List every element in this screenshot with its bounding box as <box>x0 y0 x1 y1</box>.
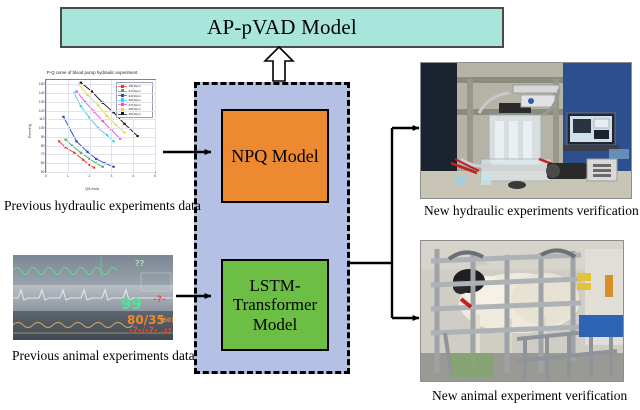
chart-gridline-y <box>46 102 155 103</box>
caption-new-hydraulic: New hydraulic experiments verification <box>424 203 639 219</box>
chart-data-point <box>123 132 125 134</box>
hydraulic-bench-scene <box>421 63 631 198</box>
model-title-box: AP-pVAD Model <box>60 7 504 48</box>
chart-gridline-y <box>46 172 155 173</box>
monitor-spo2-value: 99 <box>121 295 142 313</box>
caption-new-animal: New animal experiment verification <box>432 388 627 404</box>
monitor-alarm-3: -27 <box>161 328 172 335</box>
chart-data-point <box>82 159 84 161</box>
chart-legend-swatch <box>118 94 127 96</box>
chart-ytick-label: 120 <box>39 109 45 113</box>
chart-gridline-y <box>46 111 155 112</box>
caption-previous-animal: Previous animal experiments data <box>12 348 195 364</box>
chart-gridline-y <box>46 119 155 120</box>
chart-ytick-label: 110 <box>39 117 44 121</box>
chart-data-point <box>106 134 108 136</box>
chart-ytick-label: 50 <box>41 170 45 174</box>
chart-ytick-label: 70 <box>41 152 45 156</box>
chart-legend: 1800rpm2100rpm2400rpm2600rpm2700rpm2800r… <box>116 82 153 118</box>
chart-data-point <box>64 139 66 141</box>
npq-model-box[interactable]: NPQ Model <box>221 109 329 203</box>
chart-data-point <box>80 152 82 154</box>
chart-ytick-label: 80 <box>41 144 45 148</box>
chart-data-point <box>123 123 125 125</box>
chart-data-point <box>112 111 114 113</box>
chart-data-point <box>86 94 88 96</box>
chart-data-point <box>58 140 60 142</box>
monitor-alarm-2: -?-/-?- <box>129 326 158 336</box>
chart-legend-item: 2400rpm <box>118 94 151 98</box>
chart-gridline-x <box>155 80 156 172</box>
chart-data-point <box>75 90 77 92</box>
lstm-transformer-model-box[interactable]: LSTM-Transformer Model <box>221 259 329 351</box>
chart-series-line <box>74 93 113 141</box>
chart-x-axis-label: Q/L/min <box>22 186 162 191</box>
previous-animal-monitor-photo: 99 80/35 (50) -?- -?-/-?- -27 ?? <box>13 255 173 340</box>
new-animal-pen-photo <box>420 240 624 382</box>
chart-data-point <box>80 105 82 107</box>
lstm-transformer-model-label: LSTM-Transformer Model <box>223 276 327 333</box>
chart-legend-swatch <box>118 90 127 92</box>
monitor-hr-value: ?? <box>135 259 144 268</box>
chart-data-point <box>73 152 75 154</box>
chart-legend-item: 3000rpm <box>118 112 151 116</box>
chart-xtick-label: 0 <box>45 174 47 178</box>
chart-data-point <box>112 166 114 168</box>
chart-xtick-label: 1 <box>67 174 69 178</box>
chart-title: P-Q curve of blood pump hydraulic experi… <box>22 70 162 75</box>
chart-legend-item: 2700rpm <box>118 103 151 107</box>
chart-y-axis-label: P/mmHg <box>28 124 32 138</box>
chart-gridline-y <box>46 154 155 155</box>
chart-data-point <box>75 140 77 142</box>
chart-legend-swatch <box>118 113 127 115</box>
chart-ytick-label: 60 <box>41 161 45 165</box>
chart-legend-swatch <box>118 85 127 87</box>
chart-xtick-label: 4 <box>132 174 134 178</box>
monitor-bp-unit: (50) <box>160 317 173 324</box>
chart-data-point <box>95 158 97 160</box>
pq-curve-chart: P-Q curve of blood pump hydraulic experi… <box>22 70 162 192</box>
chart-data-point <box>101 166 103 168</box>
chart-data-point <box>91 90 93 92</box>
chart-data-point <box>93 167 95 169</box>
chart-data-point <box>115 124 117 126</box>
animal-pen-scene <box>421 241 623 381</box>
chart-ytick-label: 90 <box>41 135 45 139</box>
chart-gridline-y <box>46 137 155 138</box>
chart-gridline-y <box>46 93 155 94</box>
chart-data-point <box>62 116 64 118</box>
chart-ytick-label: 140 <box>39 91 45 95</box>
chart-data-point <box>119 138 121 140</box>
chart-ytick-label: 130 <box>39 100 45 104</box>
chart-gridline-y <box>46 163 155 164</box>
chart-gridline-y <box>46 84 155 85</box>
chart-data-point <box>80 82 82 84</box>
monitor-alarm-1: -?- <box>153 295 166 305</box>
chart-legend-label: 3000rpm <box>129 112 141 116</box>
chart-data-point <box>101 120 103 122</box>
pipeline-panel: NPQ Model LSTM-Transformer Model <box>194 82 350 374</box>
npq-model-label: NPQ Model <box>231 146 319 166</box>
new-hydraulic-bench-photo <box>420 62 632 199</box>
chart-xtick-label: 3 <box>110 174 112 178</box>
caption-previous-hydraulic: Previous hydraulic experiments data <box>4 198 201 214</box>
chart-data-point <box>106 115 108 117</box>
chart-data-point <box>86 151 88 153</box>
chart-data-point <box>64 146 66 148</box>
chart-ytick-label: 100 <box>39 126 45 130</box>
chart-xtick-label: 5 <box>154 174 156 178</box>
page-title: AP-pVAD Model <box>207 15 357 40</box>
chart-legend-label: 2700rpm <box>129 103 141 107</box>
chart-data-point <box>97 104 99 106</box>
chart-data-point <box>112 140 114 142</box>
chart-gridline-y <box>46 128 155 129</box>
up-block-arrow-icon <box>262 46 296 82</box>
chart-xtick-label: 2 <box>89 174 91 178</box>
chart-plot-area: 1800rpm2100rpm2400rpm2600rpm2700rpm2800r… <box>45 79 156 173</box>
chart-legend-label: 2400rpm <box>129 94 141 98</box>
chart-gridline-y <box>46 146 155 147</box>
chart-legend-swatch <box>118 104 127 106</box>
chart-ytick-label: 150 <box>39 82 45 86</box>
